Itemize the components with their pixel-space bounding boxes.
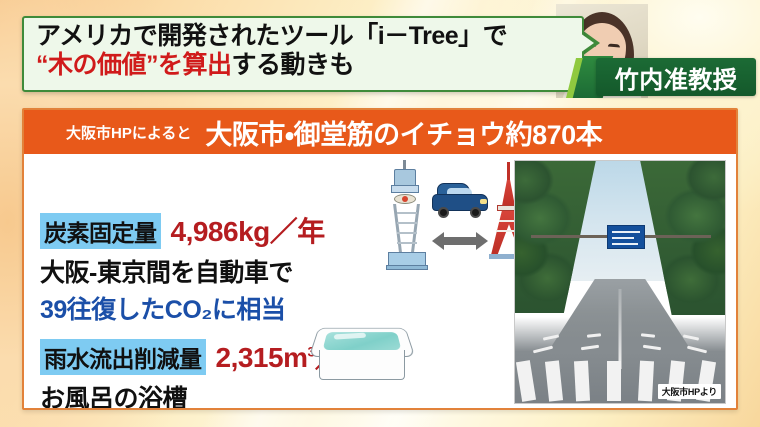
travel-illustration [380,156,530,274]
stat-rainwater-label: 雨水流出削減量 [40,339,206,375]
stat-block-carbon: 炭素固定量 4,986kg／年 大阪-東京間を自動車で 39往復したCO₂に相当 [40,210,325,326]
headline-bubble: アメリカで開発されたツール「i－Tree」で “木の価値”を算出する動きも [22,16,584,92]
card-title: 大阪市・御堂筋のイチョウ約870本 [205,113,602,152]
car-icon [432,182,488,216]
tsutenkaku-brace-1 [397,212,417,214]
presenter-name-label: 竹内准教授 [615,60,738,95]
tsutenkaku-observation-deck [394,169,416,186]
double-arrow-icon [432,232,488,250]
arrow-shaft [443,237,477,245]
tsutenkaku-tower-icon [386,160,432,272]
stat-carbon-value: 4,986kg／年 [171,210,325,250]
arrow-head-right [476,232,488,250]
car-headlight [480,199,487,204]
headline-line-2-rest: する動きも [232,51,355,79]
photo-credit-label: 大阪市HPより [658,384,721,399]
card-body: 炭素固定量 4,986kg／年 大阪-東京間を自動車で 39往復したCO₂に相当… [24,154,736,410]
headline-line-2: “木の価値”を算出する動きも [36,52,572,79]
tsutenkaku-base [388,252,426,266]
card-header-bar: 大阪市HPによると 大阪市・御堂筋のイチョウ約870本 [24,110,736,154]
tsutenkaku-foundation [386,265,428,270]
card-source-label: 大阪市HPによると [66,122,191,143]
speech-bubble-tail-inner [580,33,594,53]
stat-carbon-toprow: 炭素固定量 4,986kg／年 [40,210,325,250]
tokyo-tower-antenna [507,162,510,182]
stat-carbon-label: 炭素固定量 [40,213,161,249]
midosuji-street-photo: 大阪市HPより [514,160,726,404]
car-wheel-front [438,207,449,218]
bathtub-front-panel [319,350,405,380]
stat-carbon-sub-black: 大阪-東京間を自動車で [40,253,325,289]
photo-road-sign [607,225,645,249]
tsutenkaku-brace-4 [397,242,417,244]
tsutenkaku-brace-3 [397,232,417,234]
stat-carbon-sub-blue: 39往復したCO₂に相当 [40,290,325,326]
headline-line-1: アメリカで開発されたツール「i－Tree」で [36,23,572,50]
info-card: 大阪市HPによると 大阪市・御堂筋のイチョウ約870本 炭素固定量 4,986k… [22,108,738,410]
broadcast-graphic: アメリカで開発されたツール「i－Tree」で “木の価値”を算出する動きも 竹内… [0,0,760,427]
bathtub-icon [314,324,410,386]
stat-rainwater-value-number: 2,315m [216,342,308,373]
headline-line-2-emphasis: “木の価値”を算出 [36,51,232,79]
tsutenkaku-deck-rim [391,185,419,193]
presenter-nameplate: 竹内准教授 [596,58,756,96]
car-wheel-rear [470,207,481,218]
tsutenkaku-brace-2 [397,222,417,224]
photo-center-line [619,289,622,369]
tsutenkaku-ring-center [402,196,408,202]
